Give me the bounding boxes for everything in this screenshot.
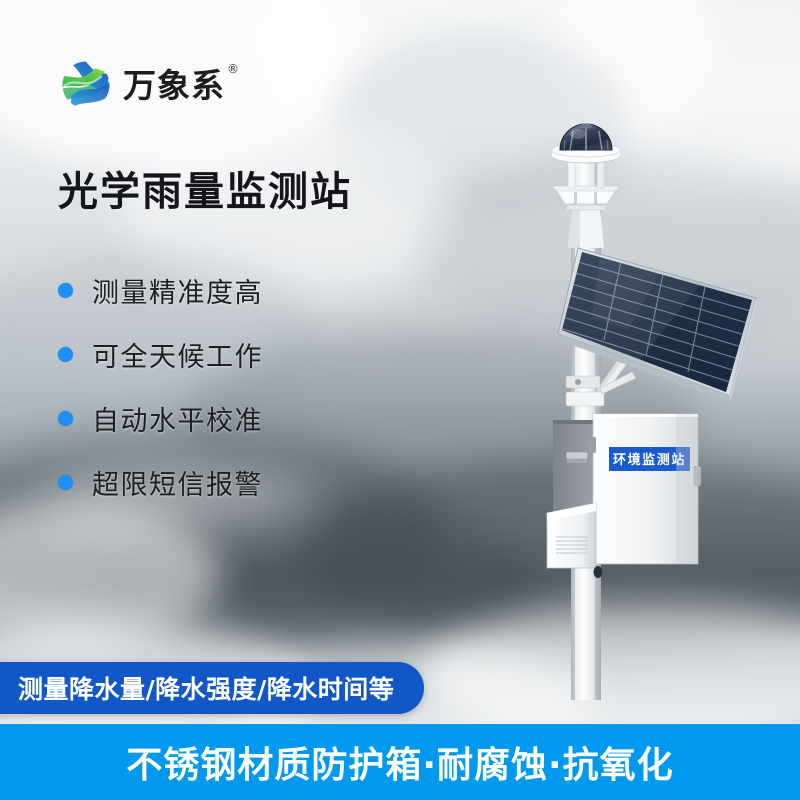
blue-dot-icon — [58, 283, 73, 298]
registered-mark: ® — [227, 63, 240, 75]
measurement-banner-text: 测量降水量/降水强度/降水时间等 — [18, 670, 394, 706]
bottom-tagline-text: 不锈钢材质防护箱·耐腐蚀·抗氧化 — [126, 736, 673, 788]
feature-label: 自动水平校准 — [92, 399, 263, 438]
feature-label: 超限短信报警 — [92, 463, 263, 502]
feature-label: 可全天候工作 — [92, 335, 263, 374]
blue-dot-icon — [58, 475, 73, 490]
swirl-globe-icon — [58, 57, 114, 113]
brand-name-text: 万象系® — [123, 69, 225, 102]
list-item: 可全天候工作 — [58, 322, 263, 386]
blue-dot-icon — [58, 411, 73, 426]
list-item: 超限短信报警 — [58, 450, 263, 514]
brand-logo: 万象系® — [58, 57, 225, 113]
product-poster: 环境监测站 — [0, 0, 800, 800]
blue-dot-icon — [58, 347, 73, 362]
feature-label: 测量精准度高 — [92, 271, 263, 310]
measurement-banner: 测量降水量/降水强度/降水时间等 — [0, 662, 424, 714]
brand-name-label: 万象系 — [123, 66, 225, 105]
list-item: 自动水平校准 — [58, 386, 263, 450]
page-title: 光学雨量监测站 — [58, 172, 352, 212]
feature-list: 测量精准度高 可全天候工作 自动水平校准 超限短信报警 — [58, 258, 263, 514]
list-item: 测量精准度高 — [58, 258, 263, 322]
bottom-tagline-bar: 不锈钢材质防护箱·耐腐蚀·抗氧化 — [0, 724, 800, 800]
